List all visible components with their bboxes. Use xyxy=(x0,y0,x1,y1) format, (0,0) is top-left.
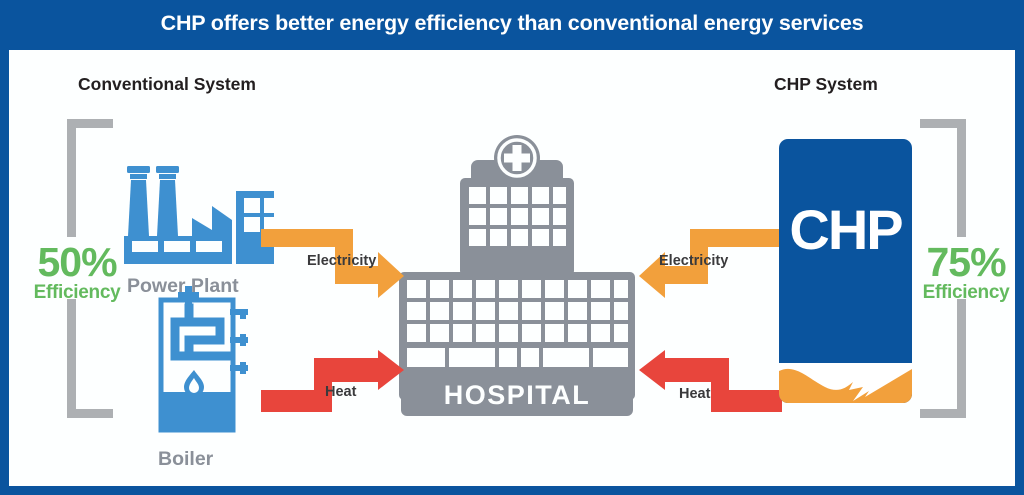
efficiency-chp-value: 75% xyxy=(906,242,1024,282)
heading-chp-system: CHP System xyxy=(774,74,878,95)
arrow-heat-left xyxy=(261,350,406,412)
efficiency-chp-label: Efficiency xyxy=(906,282,1024,304)
power-plant-icon xyxy=(114,160,274,275)
infographic-root: CHP offers better energy efficiency than… xyxy=(0,0,1024,495)
boiler-label: Boiler xyxy=(158,448,213,471)
heading-conventional-system: Conventional System xyxy=(78,74,256,95)
caption-electricity-left: Electricity xyxy=(307,253,376,269)
caption-electricity-right: Electricity xyxy=(659,253,728,269)
bracket-right-bottom-icon xyxy=(920,299,966,418)
bracket-left-top-icon xyxy=(67,119,113,237)
chp-unit-label: CHP xyxy=(789,198,902,261)
efficiency-chp: 75% Efficiency xyxy=(906,242,1024,304)
bracket-right-top-icon xyxy=(920,119,966,237)
bracket-left-bottom-icon xyxy=(67,299,113,418)
hospital-building-icon: HOSPITAL xyxy=(387,132,647,422)
title-bar: CHP offers better energy efficiency than… xyxy=(0,0,1024,47)
caption-heat-right: Heat xyxy=(679,386,710,402)
boiler-icon xyxy=(152,282,258,442)
arrow-heat-right xyxy=(637,350,782,412)
diagram-canvas: Conventional System CHP System 50% Effic… xyxy=(9,50,1015,486)
chp-unit-icon: CHP xyxy=(779,139,912,403)
hospital-label: HOSPITAL xyxy=(444,380,591,410)
caption-heat-left: Heat xyxy=(325,384,356,400)
efficiency-conventional-label: Efficiency xyxy=(17,282,137,304)
page-title: CHP offers better energy efficiency than… xyxy=(161,11,864,36)
